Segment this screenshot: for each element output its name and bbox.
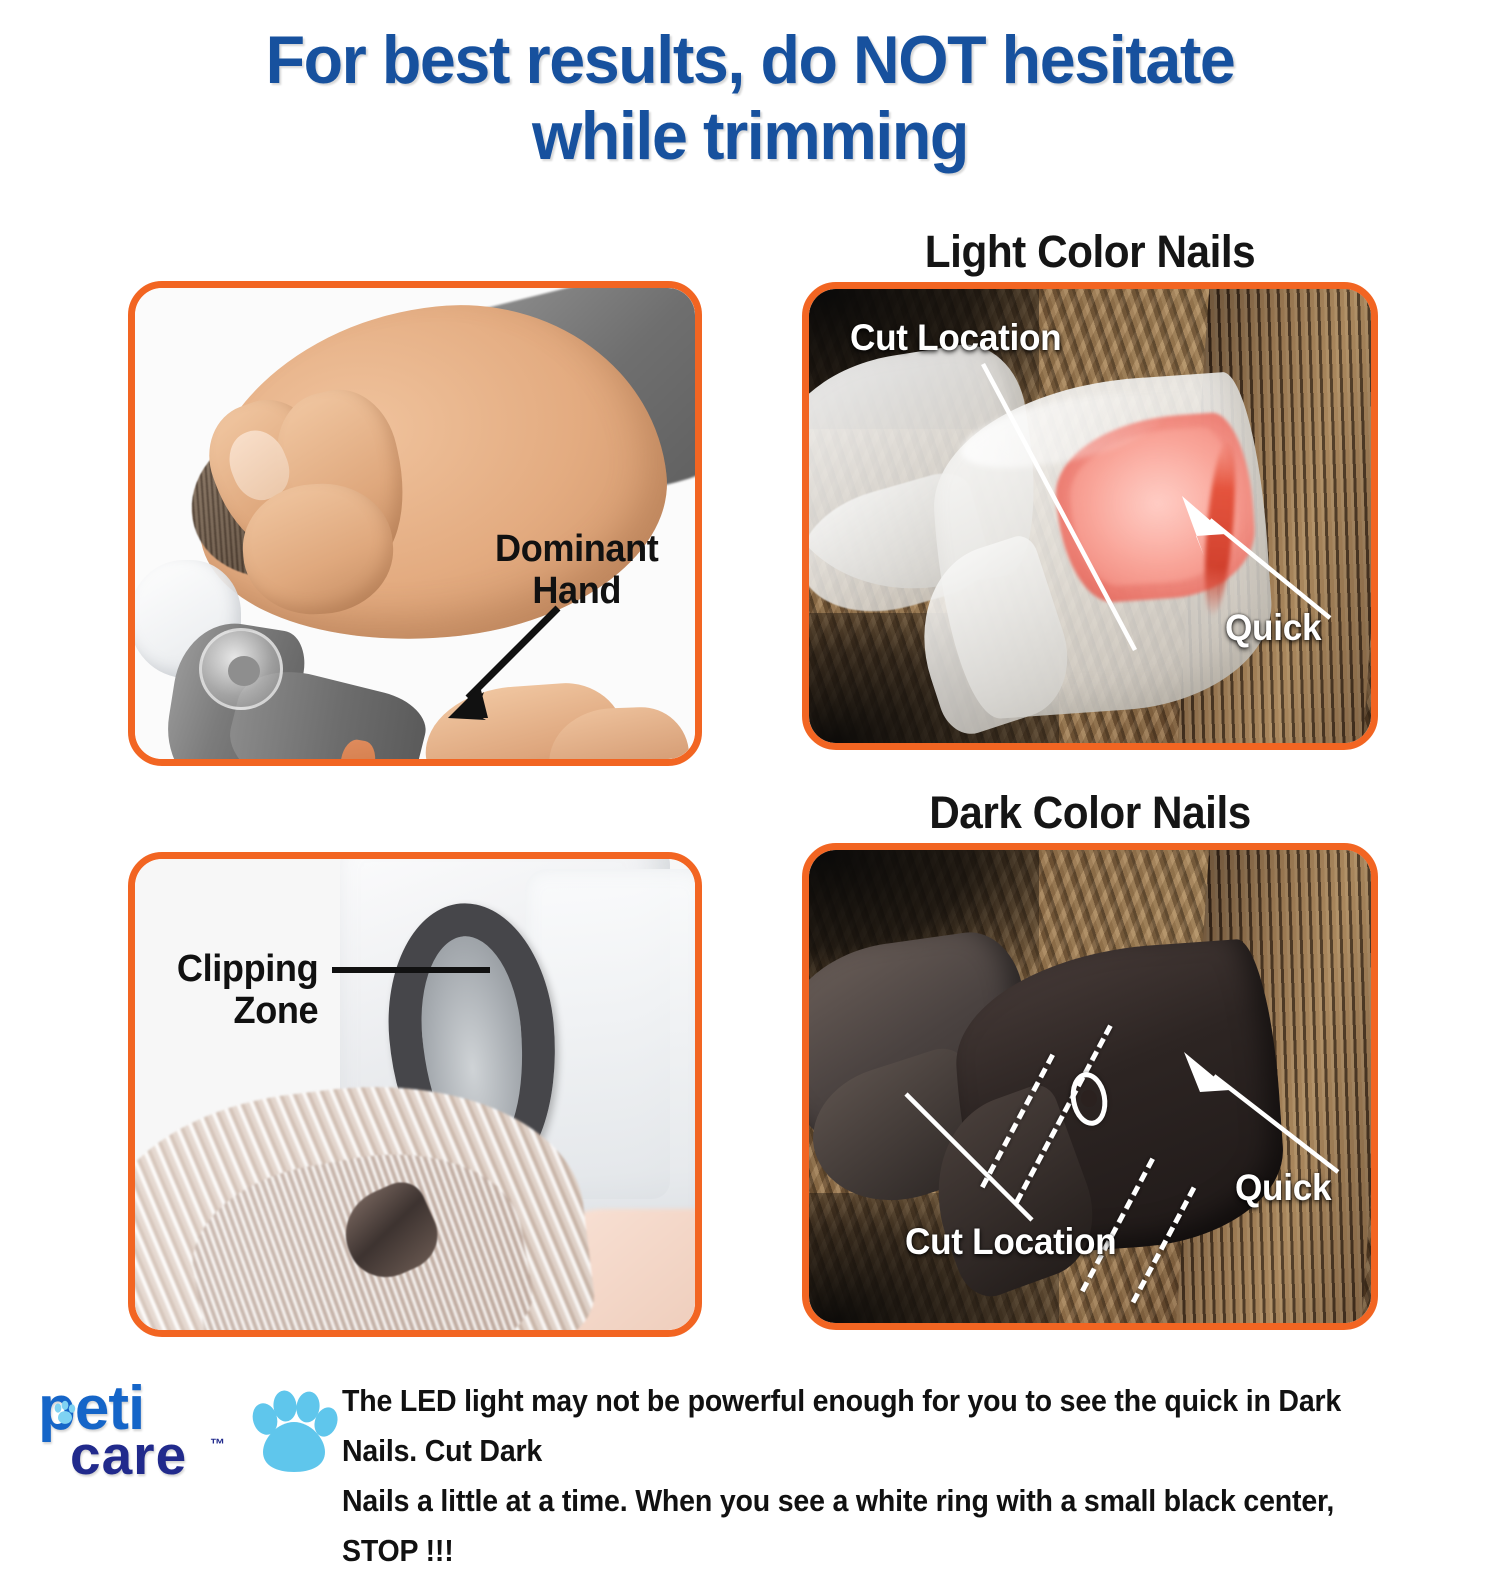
label-clipping-zone: Clipping Zone xyxy=(152,948,318,1032)
photo-clipper-closeup xyxy=(135,859,695,1330)
heading-light-color-nails: Light Color Nails xyxy=(819,228,1360,276)
panel-clipping-zone xyxy=(128,852,702,1337)
label-quick-dark: Quick xyxy=(1235,1168,1331,1208)
footer-note-line-2: Nails a little at a time. When you see a… xyxy=(342,1476,1374,1576)
page-title-line-2: while trimming xyxy=(38,98,1463,174)
clipper-pivot xyxy=(199,628,283,710)
footer: peti care ™ The LED light may not be pow… xyxy=(0,1370,1500,1495)
panel-dominant-hand xyxy=(128,281,702,766)
paw-print-icon xyxy=(248,1386,340,1478)
peticare-logo: peti care ™ xyxy=(38,1378,228,1488)
footer-note-line-1: The LED light may not be powerful enough… xyxy=(342,1376,1374,1476)
logo-paw-icon xyxy=(52,1400,78,1426)
panel-clipping-zone-photo xyxy=(135,859,695,1330)
label-cut-location-light: Cut Location xyxy=(850,318,1061,358)
page-title: For best results, do NOT hesitate while … xyxy=(38,22,1463,174)
page-title-line-1: For best results, do NOT hesitate xyxy=(38,22,1463,98)
label-quick-light: Quick xyxy=(1225,608,1321,648)
heading-dark-color-nails: Dark Color Nails xyxy=(819,789,1360,837)
label-dominant-hand: Dominant Hand xyxy=(495,528,658,612)
photo-hand-holding-clipper xyxy=(135,288,695,759)
logo-care-text: care xyxy=(70,1428,187,1483)
panel-dominant-hand-photo xyxy=(135,288,695,759)
label-cut-location-dark: Cut Location xyxy=(905,1222,1116,1262)
logo-trademark-symbol: ™ xyxy=(210,1436,225,1453)
footer-note: The LED light may not be powerful enough… xyxy=(342,1376,1374,1576)
